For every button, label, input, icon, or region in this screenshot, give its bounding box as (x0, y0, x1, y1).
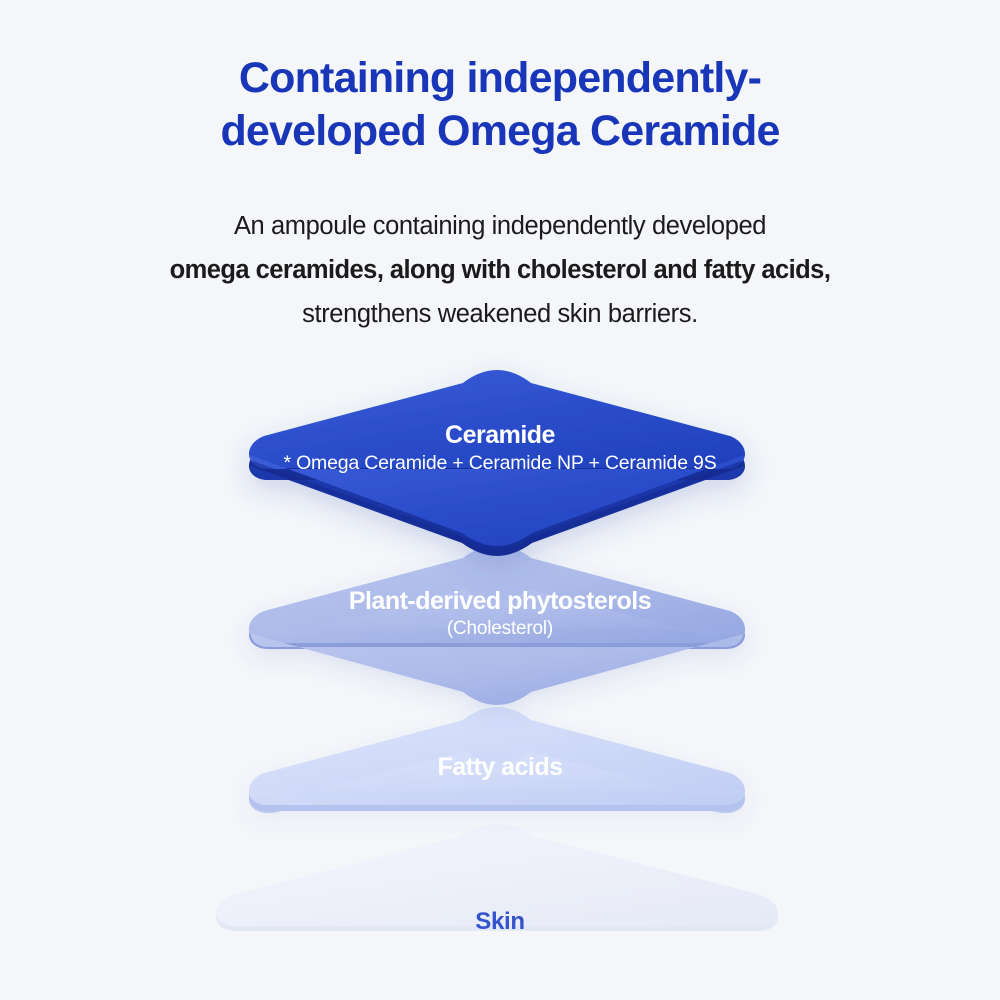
stack-layer-phytosterols (249, 545, 745, 705)
infographic-page: Containing independently- developed Omeg… (0, 0, 1000, 1000)
layer-title-skin: Skin (475, 908, 524, 935)
stack-layer-fatty-acids (249, 707, 745, 813)
layer-label-skin: Skin (0, 908, 1000, 936)
layered-stack-diagram (0, 0, 1000, 1000)
stack-layer-ceramide (249, 370, 745, 556)
